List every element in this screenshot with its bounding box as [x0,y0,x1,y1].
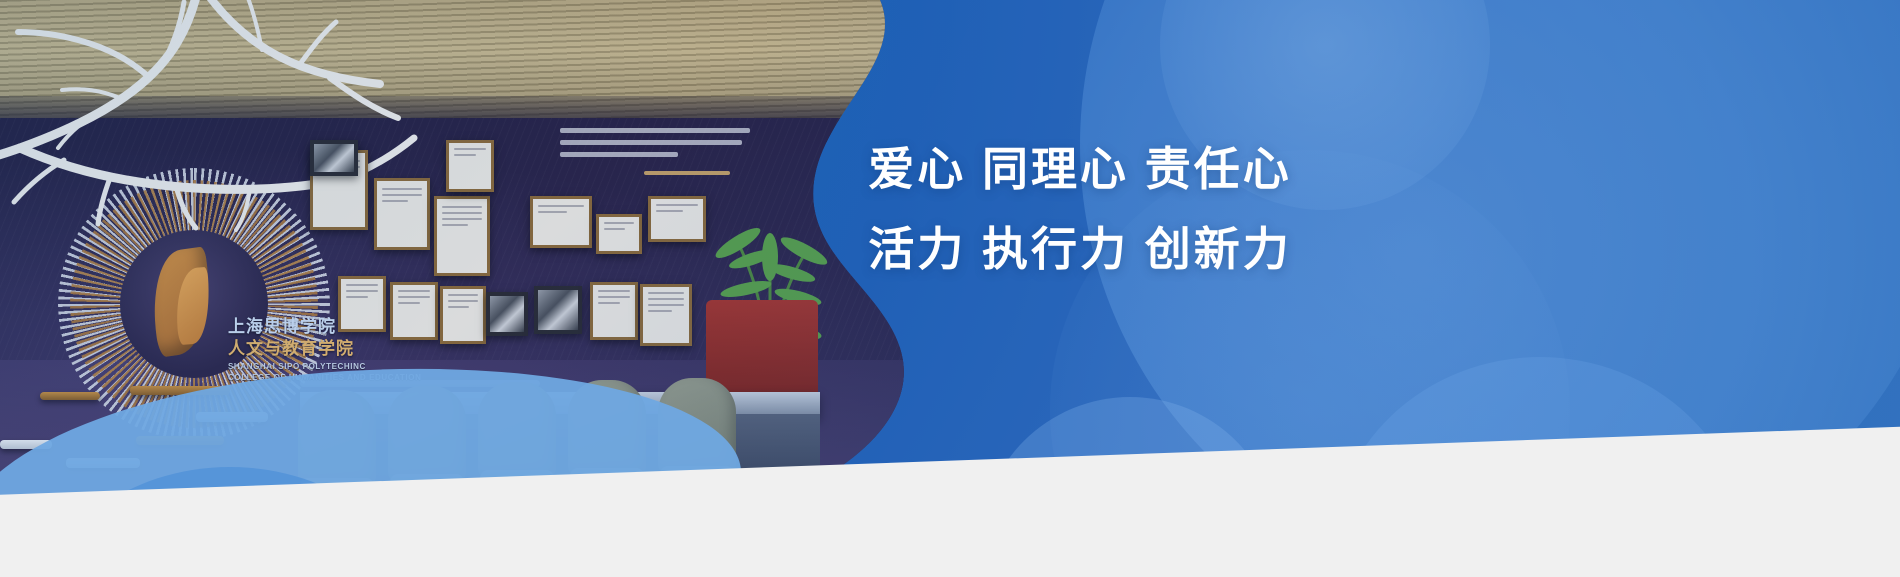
wall-card [640,284,692,346]
wall-card [530,196,592,248]
slogan-line-1: 爱心 同理心 责任心 [800,146,1360,192]
wall-card [590,282,638,340]
wall-card [434,196,490,276]
quote-attribution [644,171,730,175]
wall-photo-card [534,286,582,334]
wall-card [648,196,706,242]
wall-card [440,286,486,344]
signage-cn-line2: 人文与教育学院 [228,340,421,357]
wall-photo-card [486,292,528,336]
slogan-block: 爱心 同理心 责任心 活力 执行力 创新力 [800,146,1360,272]
wall-shelf [40,392,100,400]
wall-card [446,140,494,192]
wall-quote-block [560,128,750,175]
wall-photo-card [310,140,358,176]
signage-cn-line1: 上海思博学院 [228,318,421,335]
wall-card [596,214,642,254]
wall-card [374,178,430,250]
hero-banner: 上海思博学院 人文与教育学院 SHANGHAI SIPO POLYTECHINC… [0,0,1900,577]
slogan-line-2: 活力 执行力 创新力 [800,226,1360,272]
